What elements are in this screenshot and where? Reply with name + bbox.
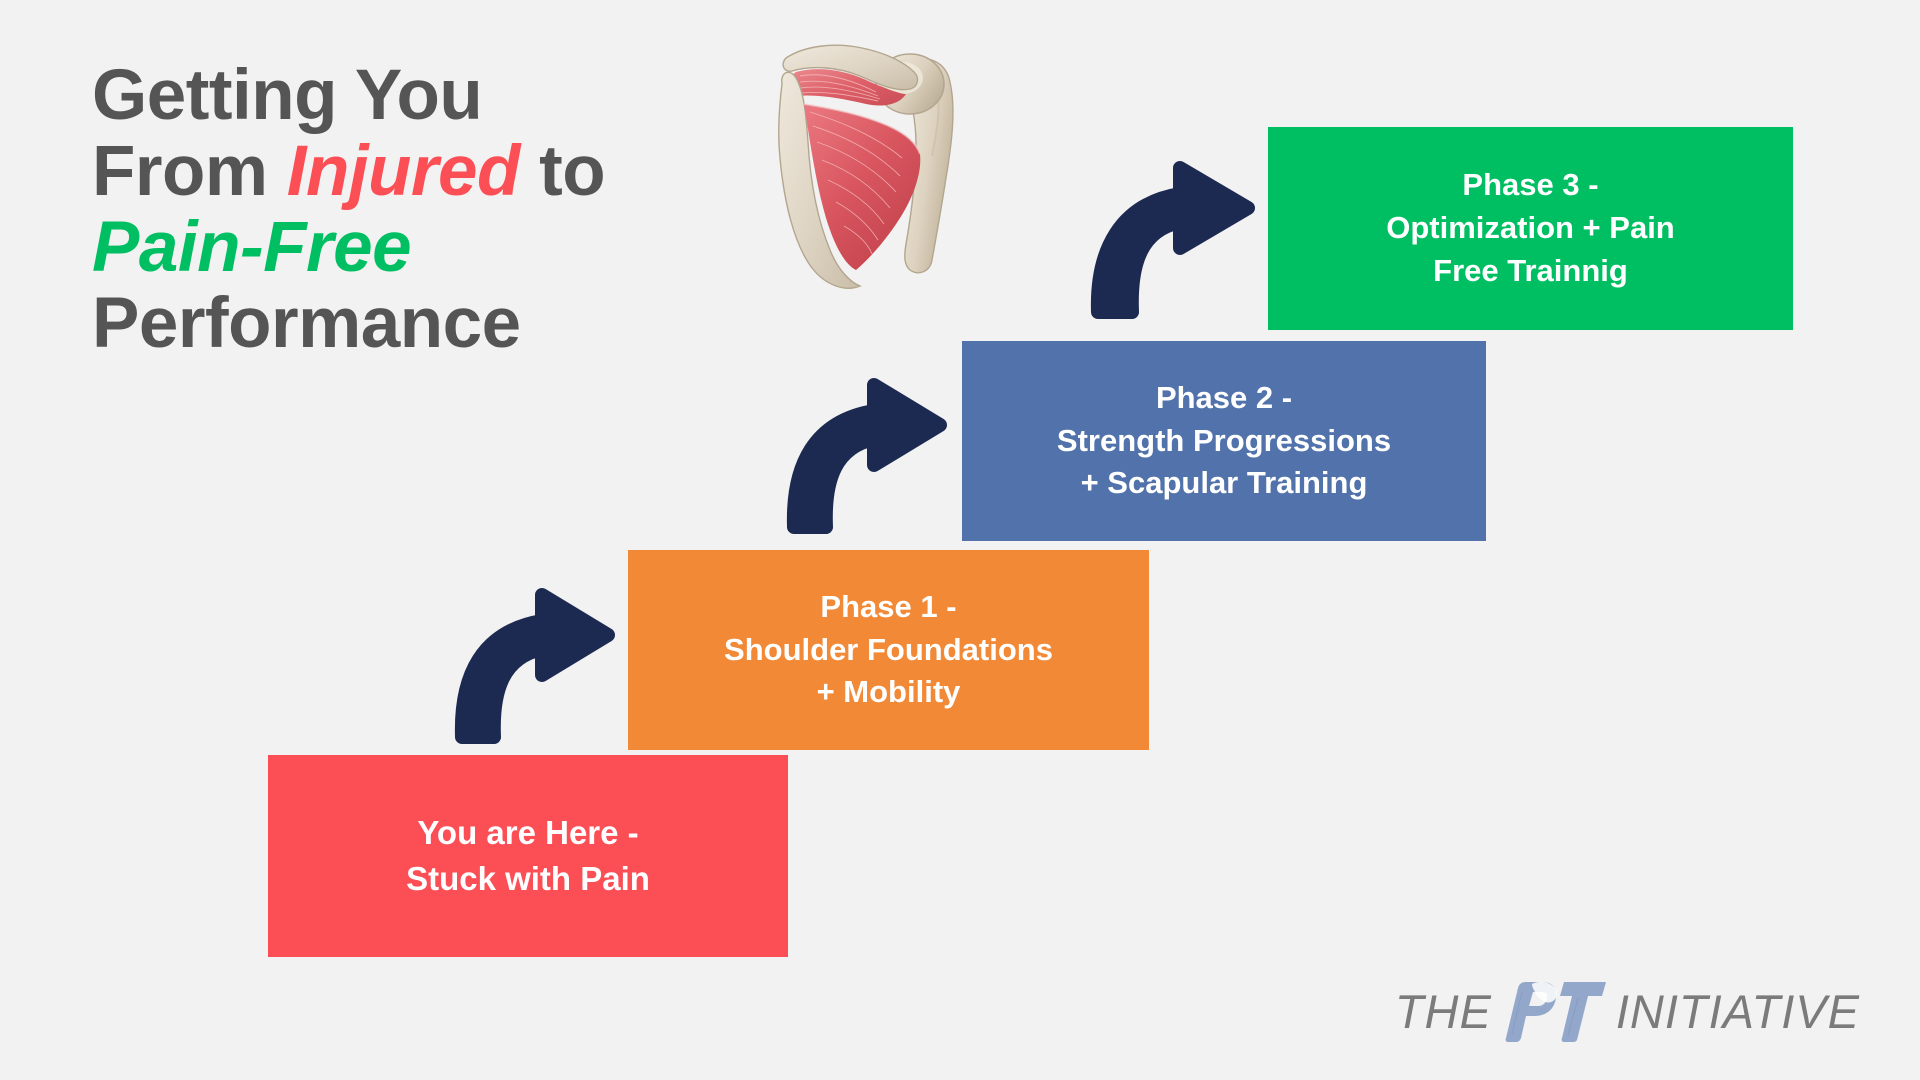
headline-text-performance: Performance [92,284,521,363]
logo-text-initiative: INITIATIVE [1616,988,1860,1035]
logo-pt-bone-icon [1502,978,1610,1044]
page-title: Getting You From Injured to Pain-Free Pe… [92,58,732,362]
shoulder-anatomy-illustration [760,38,988,294]
step-box-you-are-here[interactable]: You are Here - Stuck with Pain [268,755,788,957]
headline-line-4: Performance [92,286,732,362]
step-box-phase-2[interactable]: Phase 2 - Strength Progressions + Scapul… [962,341,1486,541]
arrow-step-here-to-phase1 [438,565,618,745]
headline-line-3: Pain-Free [92,210,732,286]
headline-line-1: Getting You [92,58,732,134]
infographic-canvas: Getting You From Injured to Pain-Free Pe… [0,0,1920,1080]
logo-text-the: THE [1395,988,1492,1035]
headline-emphasis-injured: Injured [287,132,520,211]
headline-emphasis-pain-free: Pain-Free [92,208,411,287]
brand-logo[interactable]: THE INITIATIVE [1390,975,1860,1047]
headline-text-from: From [92,132,287,211]
headline-line-2: From Injured to [92,134,732,210]
step-box-phase-1[interactable]: Phase 1 - Shoulder Foundations + Mobilit… [628,550,1149,750]
headline-text-to: to [520,132,605,211]
step-box-phase-3[interactable]: Phase 3 - Optimization + Pain Free Train… [1268,127,1793,330]
headline-text-getting-you: Getting You [92,56,482,135]
arrow-step-phase2-to-phase3 [1074,136,1258,320]
arrow-step-phase1-to-phase2 [770,353,950,535]
